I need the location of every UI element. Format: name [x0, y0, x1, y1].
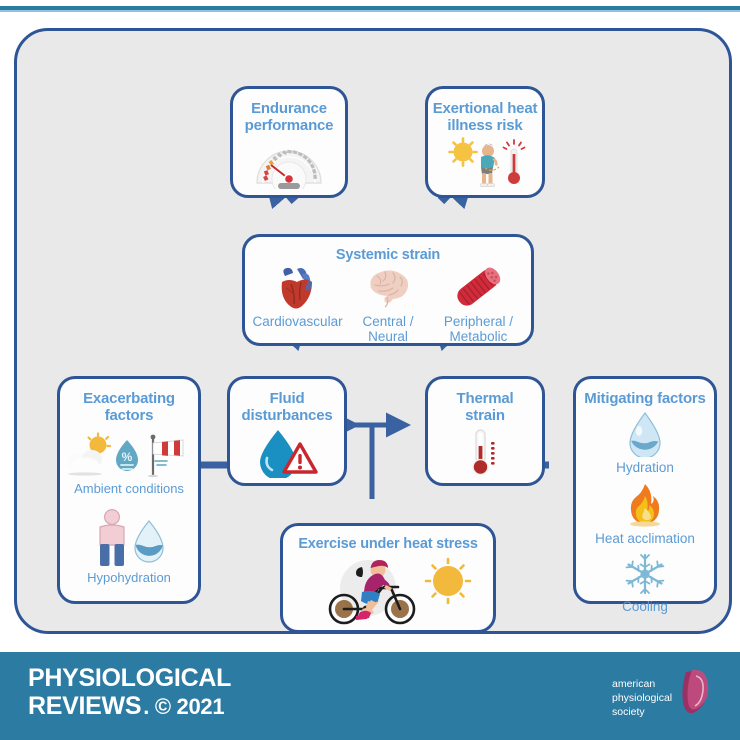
heat-illness-icon: [441, 137, 529, 189]
mitigating-factors-title: Mitigating factors: [584, 379, 705, 407]
aps-text-line1: american: [612, 678, 692, 692]
journal-copyright: . © 2021: [143, 695, 224, 720]
aps-text-line3: society: [612, 706, 692, 720]
water-drop-icon: [135, 521, 163, 562]
mitigating-label-hydration: Hydration: [616, 460, 674, 476]
top-accent-bar-light: [0, 10, 740, 12]
exacerbating-item-hypohydration[interactable]: Hypohydration: [81, 508, 177, 586]
humidity-drop-icon: %: [116, 440, 138, 471]
thermometer-icon: [462, 428, 508, 478]
mitigating-item-cooling[interactable]: Cooling: [622, 552, 668, 615]
brain-icon: [361, 266, 415, 312]
eh-risk-title: Exertional heat illness risk: [433, 89, 538, 135]
ambient-conditions-icons: %: [65, 431, 193, 479]
thermal-strain-title: Thermal strain: [457, 379, 514, 425]
exacerbating-label-hypohydration: Hypohydration: [87, 571, 171, 586]
fluid-disturbances-title: Fluid disturbances: [242, 379, 333, 425]
systemic-label-peripheral-metabolic: Peripheral / Metabolic: [444, 314, 513, 345]
box-exertional-heat-illness-risk[interactable]: Exertional heat illness risk: [425, 86, 545, 198]
journal-title: PHYSIOLOGICAL REVIEWS . © 2021: [28, 664, 231, 720]
journal-title-line2: REVIEWS: [28, 692, 141, 720]
sun-behind-cloud-icon: [68, 433, 110, 475]
exercise-title: Exercise under heat stress: [298, 526, 477, 553]
footer-banner: PHYSIOLOGICAL REVIEWS . © 2021 american …: [0, 652, 740, 740]
svg-text:%: %: [122, 450, 133, 464]
mitigating-label-heat-acclimation: Heat acclimation: [595, 531, 695, 547]
heart-icon: [271, 266, 325, 312]
mitigating-item-heat-acclimation[interactable]: Heat acclimation: [595, 482, 695, 547]
box-thermal-strain[interactable]: Thermal strain: [425, 376, 545, 486]
flame-icon: [623, 482, 667, 528]
exacerbating-item-ambient-conditions[interactable]: % Ambient conditions: [65, 431, 193, 497]
systemic-label-cardiovascular: Cardiovascular: [253, 314, 343, 330]
sun-icon: [426, 559, 470, 603]
systemic-item-peripheral-metabolic[interactable]: Peripheral / Metabolic: [434, 266, 523, 345]
exacerbating-label-ambient-conditions: Ambient conditions: [74, 482, 184, 497]
person-icon: [100, 510, 124, 566]
muscle-fiber-icon: [451, 266, 505, 312]
speedometer-icon: [252, 139, 326, 189]
aps-logo-text: american physiological society: [612, 678, 692, 720]
systemic-item-central-neural[interactable]: Central / Neural: [343, 266, 432, 345]
diagram-container: Endurance performance: [14, 28, 732, 634]
exercise-icons: [296, 554, 480, 626]
exacerbating-factors-title: Exacerbating factors: [83, 379, 175, 425]
box-fluid-disturbances[interactable]: Fluid disturbances: [227, 376, 347, 486]
endurance-title: Endurance performance: [245, 89, 334, 135]
water-drop-icon: [623, 411, 667, 457]
box-endurance-performance[interactable]: Endurance performance: [230, 86, 348, 198]
mitigating-item-hydration[interactable]: Hydration: [616, 411, 674, 476]
water-drop-warning-icon: [256, 428, 318, 478]
hypohydration-icons: [81, 508, 177, 568]
windsock-icon: [148, 434, 183, 477]
box-exercise-under-heat-stress[interactable]: Exercise under heat stress: [280, 523, 496, 633]
systemic-label-central-neural: Central / Neural: [362, 314, 413, 345]
box-systemic-strain[interactable]: Systemic strain Cardiovascular: [242, 234, 534, 346]
systemic-strain-title: Systemic strain: [336, 237, 440, 264]
box-mitigating-factors[interactable]: Mitigating factors Hydration Heat acclim…: [573, 376, 717, 604]
systemic-item-cardiovascular[interactable]: Cardiovascular: [253, 266, 342, 345]
snowflake-icon: [623, 552, 667, 596]
box-exacerbating-factors[interactable]: Exacerbating factors: [57, 376, 201, 604]
mitigating-label-cooling: Cooling: [622, 599, 668, 615]
aps-text-line2: physiological: [612, 692, 692, 706]
journal-title-line1: PHYSIOLOGICAL: [28, 664, 231, 692]
